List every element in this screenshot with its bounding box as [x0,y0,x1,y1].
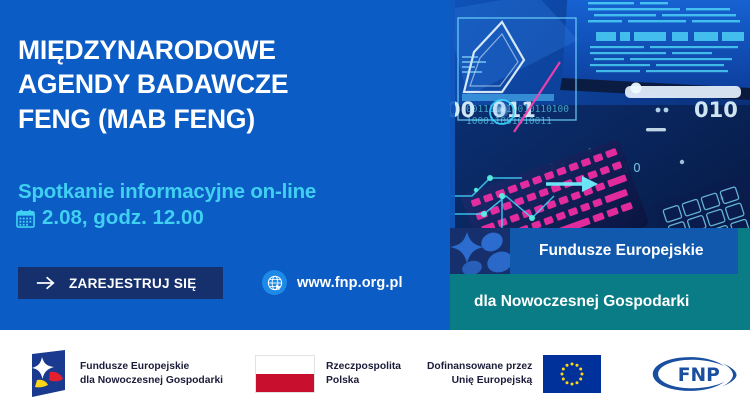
title-line-1: MIĘDZYNARODOWE [18,33,438,67]
fe-stars-icon [450,228,510,274]
event-date-text: 2.08, godz. 12.00 [42,206,204,230]
title-line-2: AGENDY BADAWCZE [18,67,438,101]
fe-overlay-badge: Fundusze Europejskie dla Nowoczesnej Gos… [450,228,750,330]
promotional-banner: MIĘDZYNARODOWE AGENDY BADAWCZE FENG (MAB… [0,0,750,418]
fe-overlay-row-2: dla Nowoczesnej Gospodarki [450,274,750,330]
poland-flag-icon [255,355,315,393]
footer-logo-bar: Fundusze Europejskie dla Nowoczesnej Gos… [0,330,750,418]
eu-funds-flag-icon [28,350,69,398]
fe-overlay-line-1: Fundusze Europejskie [539,242,704,260]
title-line-3: FENG (MAB FENG) [18,102,438,136]
fe-overlay-line-1-bar: Fundusze Europejskie [510,228,738,274]
eu-logo-line-1: Dofinansowane przez [427,360,532,374]
svg-text:010: 010 [694,98,738,122]
fe-logo-line-2: dla Nowoczesnej Gospodarki [80,374,223,388]
rzeczpospolita-polska-logo-text: Rzeczpospolita Polska [326,360,401,388]
eu-flag-icon [543,355,601,393]
pl-logo-line-1: Rzeczpospolita [326,360,401,374]
page-title: MIĘDZYNARODOWE AGENDY BADAWCZE FENG (MAB… [18,33,438,136]
event-date-line: 2.08, godz. 12.00 [16,206,204,230]
european-union-logo-text: Dofinansowane przez Unię Europejską [427,360,532,388]
fundusze-europejskie-logo: Fundusze Europejskie dla Nowoczesnej Gos… [28,350,223,398]
rzeczpospolita-polska-logo: Rzeczpospolita Polska [255,355,401,393]
poland-flag-white-stripe [256,356,314,374]
fe-overlay-row-1: Fundusze Europejskie [450,228,750,274]
event-subtitle: Spotkanie informacyjne on-line [18,178,448,207]
fe-logo-line-1: Fundusze Europejskie [80,360,223,374]
calendar-icon [16,209,35,228]
fe-overlay-teal-edge [738,228,750,274]
website-link[interactable]: www.fnp.org.pl [262,270,403,295]
globe-icon [262,270,287,295]
website-url-text: www.fnp.org.pl [297,275,403,291]
register-button[interactable]: ZAREJESTRUJ SIĘ [18,267,223,299]
register-button-label: ZAREJESTRUJ SIĘ [69,276,197,291]
poland-flag-red-stripe [256,374,314,392]
pl-logo-line-2: Polska [326,374,401,388]
fundusze-europejskie-logo-text: Fundusze Europejskie dla Nowoczesnej Gos… [80,360,223,388]
eu-logo-line-2: Unię Europejską [427,374,532,388]
arrow-right-icon [36,276,55,290]
european-union-logo: Dofinansowane przez Unię Europejską [427,355,601,393]
fnp-swoosh-icon: FNP [651,354,749,394]
fnp-logo: FNP Fundacja na rzecz Nauki Polskiej [651,354,750,394]
fe-overlay-line-2: dla Nowoczesnej Gospodarki [474,293,689,311]
svg-text:FNP: FNP [678,365,720,386]
